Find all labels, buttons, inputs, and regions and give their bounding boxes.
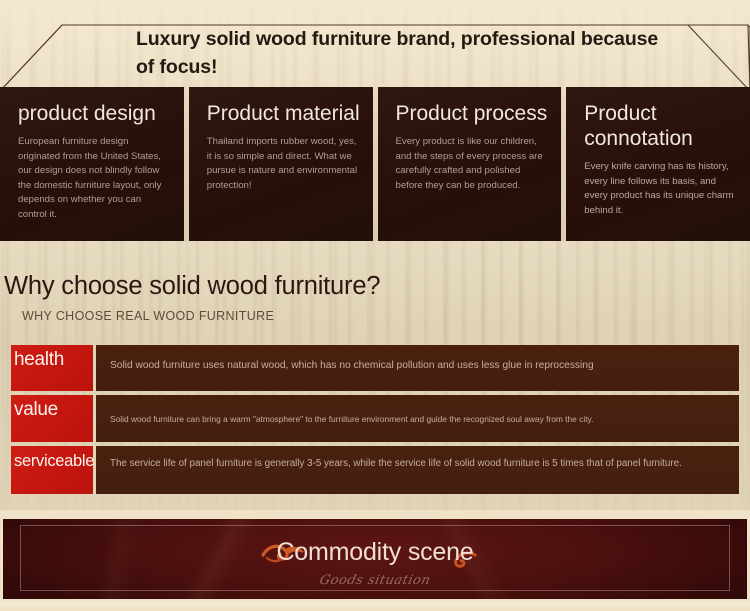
benefit-row-health[interactable]: health Solid wood furniture uses natural…	[11, 345, 739, 391]
feature-column-product-design[interactable]: product design European furniture design…	[0, 87, 184, 241]
commodity-scene-section: Commodity scene Goods situation	[0, 510, 750, 611]
feature-column-title: Product connotation	[584, 101, 736, 151]
feature-column-body: Every knife carving has its history, eve…	[584, 160, 736, 218]
benefit-row-value[interactable]: value Solid wood furniture can bring a w…	[11, 395, 739, 442]
commodity-scene-script: Goods situation	[3, 573, 747, 588]
benefit-row-text: Solid wood furniture can bring a warm "a…	[110, 412, 750, 426]
feature-column-title: Product material	[207, 101, 359, 126]
feature-column-body: European furniture design originated fro…	[18, 135, 170, 222]
hero-section: Luxury solid wood furniture brand, profe…	[0, 0, 750, 241]
benefit-rows: health Solid wood furniture uses natural…	[11, 345, 739, 498]
bottom-strip	[0, 602, 750, 611]
feature-column-body: Every product is like our children, and …	[396, 135, 548, 193]
product-detail-page: Luxury solid wood furniture brand, profe…	[0, 0, 750, 611]
feature-column-product-connotation[interactable]: Product connotation Every knife carving …	[566, 87, 750, 241]
benefit-row-label: value	[11, 395, 93, 442]
benefit-row-label: serviceable	[11, 446, 93, 494]
feature-column-title: Product process	[396, 101, 548, 126]
benefit-row-label: health	[11, 345, 93, 391]
commodity-scene-banner: Commodity scene Goods situation	[3, 519, 747, 599]
feature-column-product-process[interactable]: Product process Every product is like ou…	[378, 87, 562, 241]
feature-column-body: Thailand imports rubber wood, yes, it is…	[207, 135, 359, 193]
commodity-scene-title: Commodity scene	[3, 537, 747, 567]
hero-title: Luxury solid wood furniture brand, profe…	[136, 25, 676, 81]
benefit-row-serviceable[interactable]: serviceable The service life of panel fu…	[11, 446, 739, 494]
benefit-row-body: Solid wood furniture can bring a warm "a…	[96, 395, 739, 442]
feature-column-product-material[interactable]: Product material Thailand imports rubber…	[189, 87, 373, 241]
benefit-row-text: The service life of panel furniture is g…	[110, 457, 750, 471]
why-choose-section: Why choose solid wood furniture? WHY CHO…	[0, 241, 750, 510]
benefit-row-text: Solid wood furniture uses natural wood, …	[110, 359, 750, 373]
feature-columns: product design European furniture design…	[0, 87, 750, 241]
benefit-row-body: The service life of panel furniture is g…	[96, 446, 739, 494]
why-choose-subheading: WHY CHOOSE REAL WOOD FURNITURE	[22, 309, 274, 323]
why-choose-heading: Why choose solid wood furniture?	[4, 272, 380, 301]
benefit-row-body: Solid wood furniture uses natural wood, …	[96, 345, 739, 391]
feature-column-title: product design	[18, 101, 170, 126]
